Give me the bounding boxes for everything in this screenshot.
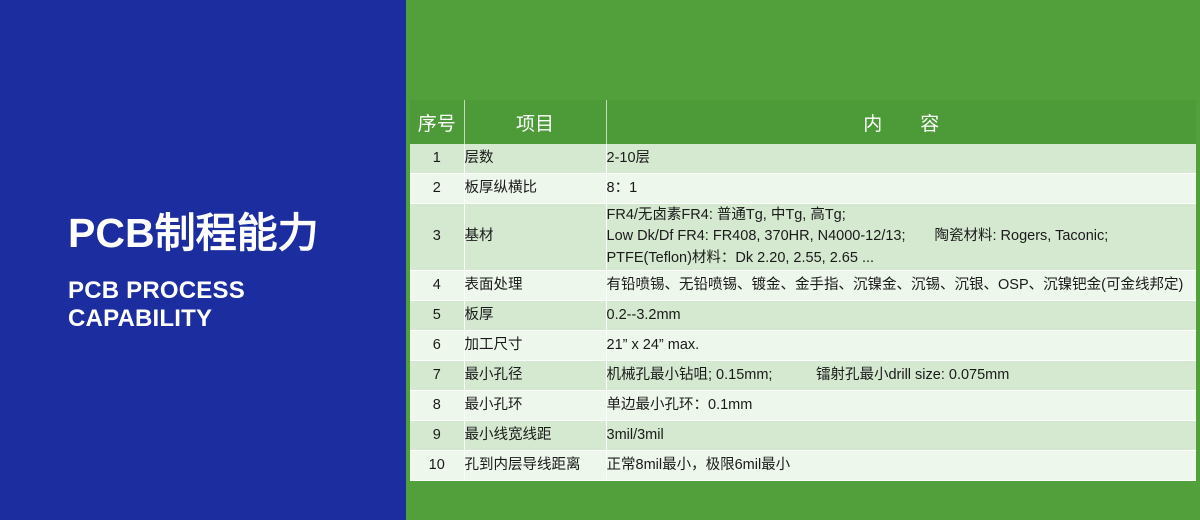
title-block: PCB制程能力 PCB PROCESS CAPABILITY [68,212,398,333]
table-row: 1层数2-10层 [410,144,1196,174]
cell-seq: 2 [410,174,464,204]
cell-content: 3mil/3mil [606,421,1196,451]
page-title: PCB制程能力 [68,212,398,255]
cell-content-line: Low Dk/Df FR4: FR408, 370HR, N4000-12/13… [607,226,1197,247]
cell-content: 0.2--3.2mm [606,301,1196,331]
table-row: 3基材FR4/无卤素FR4: 普通Tg, 中Tg, 高Tg;Low Dk/Df … [410,204,1196,271]
cell-content-line: 机械孔最小钻咀; 0.15mm; 镭射孔最小drill size: 0.075m… [607,365,1197,386]
cell-item: 加工尺寸 [464,331,606,361]
cell-item: 最小线宽线距 [464,421,606,451]
cell-content-line: 3mil/3mil [607,425,1197,446]
cell-content: 21” x 24” max. [606,331,1196,361]
table-row: 2板厚纵横比8：1 [410,174,1196,204]
left-title-panel: PCB制程能力 PCB PROCESS CAPABILITY [0,0,406,520]
column-header-item: 项目 [464,100,606,144]
cell-content-line: 0.2--3.2mm [607,305,1197,326]
cell-seq: 10 [410,451,464,481]
cell-content-line: 有铅喷锡、无铅喷锡、镀金、金手指、沉镍金、沉锡、沉银、OSP、沉镍钯金(可金线邦… [607,275,1197,296]
cell-seq: 4 [410,271,464,301]
cell-item: 孔到内层导线距离 [464,451,606,481]
table-body: 1层数2-10层2板厚纵横比8：13基材FR4/无卤素FR4: 普通Tg, 中T… [410,144,1196,481]
page-subtitle: PCB PROCESS CAPABILITY [68,277,398,333]
table-row: 7最小孔径机械孔最小钻咀; 0.15mm; 镭射孔最小drill size: 0… [410,361,1196,391]
cell-item: 板厚 [464,301,606,331]
cell-content-line: 正常8mil最小，极限6mil最小 [607,455,1197,476]
table-row: 9最小线宽线距3mil/3mil [410,421,1196,451]
cell-seq: 1 [410,144,464,174]
table-header: 序号 项目 内 容 [410,100,1196,144]
cell-content-line: 8：1 [607,178,1197,199]
cell-item: 基材 [464,204,606,271]
cell-seq: 6 [410,331,464,361]
page-root: PCB制程能力 PCB PROCESS CAPABILITY 序号 项目 内 容… [0,0,1200,520]
spec-table-wrapper: 序号 项目 内 容 1层数2-10层2板厚纵横比8：13基材FR4/无卤素FR4… [410,100,1196,481]
cell-item: 层数 [464,144,606,174]
table-row: 4表面处理有铅喷锡、无铅喷锡、镀金、金手指、沉镍金、沉锡、沉银、OSP、沉镍钯金… [410,271,1196,301]
cell-content: FR4/无卤素FR4: 普通Tg, 中Tg, 高Tg;Low Dk/Df FR4… [606,204,1196,271]
table-row: 8最小孔环单边最小孔环：0.1mm [410,391,1196,421]
table-header-row: 序号 项目 内 容 [410,100,1196,144]
cell-seq: 8 [410,391,464,421]
cell-item: 最小孔环 [464,391,606,421]
page-subtitle-line-2: CAPABILITY [68,305,398,333]
cell-seq: 5 [410,301,464,331]
cell-content-line: 21” x 24” max. [607,335,1197,356]
cell-seq: 9 [410,421,464,451]
cell-item: 板厚纵横比 [464,174,606,204]
cell-content: 单边最小孔环：0.1mm [606,391,1196,421]
cell-content: 8：1 [606,174,1196,204]
cell-content: 2-10层 [606,144,1196,174]
column-header-content: 内 容 [606,100,1196,144]
cell-seq: 3 [410,204,464,271]
cell-content-line: FR4/无卤素FR4: 普通Tg, 中Tg, 高Tg; [607,205,1197,226]
column-header-seq: 序号 [410,100,464,144]
table-row: 10孔到内层导线距离正常8mil最小，极限6mil最小 [410,451,1196,481]
table-row: 6加工尺寸21” x 24” max. [410,331,1196,361]
table-row: 5板厚0.2--3.2mm [410,301,1196,331]
cell-content: 有铅喷锡、无铅喷锡、镀金、金手指、沉镍金、沉锡、沉银、OSP、沉镍钯金(可金线邦… [606,271,1196,301]
cell-item: 表面处理 [464,271,606,301]
cell-content: 正常8mil最小，极限6mil最小 [606,451,1196,481]
page-subtitle-line-1: PCB PROCESS [68,277,398,305]
cell-content-line: 2-10层 [607,148,1197,169]
cell-seq: 7 [410,361,464,391]
pcb-capability-table: 序号 项目 内 容 1层数2-10层2板厚纵横比8：13基材FR4/无卤素FR4… [410,100,1196,481]
cell-content-line: 单边最小孔环：0.1mm [607,395,1197,416]
cell-item: 最小孔径 [464,361,606,391]
cell-content: 机械孔最小钻咀; 0.15mm; 镭射孔最小drill size: 0.075m… [606,361,1196,391]
cell-content-line: PTFE(Teflon)材料：Dk 2.20, 2.55, 2.65 ... [607,248,1197,269]
